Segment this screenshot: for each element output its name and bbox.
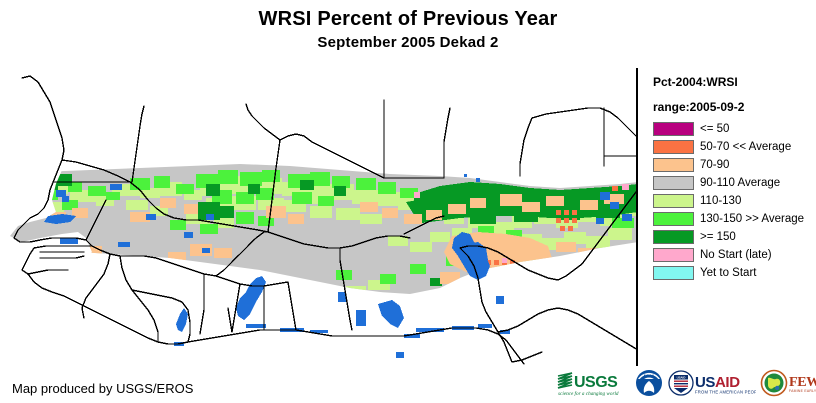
legend-item[interactable]: 50-70 << Average [653,138,816,156]
legend-item[interactable]: 130-150 >> Average [653,210,816,228]
legend-title: Pct-2004:WRSI [653,75,816,89]
map-canvas[interactable] [0,66,638,366]
svg-text:science for a changing world: science for a changing world [558,390,619,397]
usaid-logo[interactable]: USAID US AID FROM THE AMERICAN PEOPLE [668,367,756,399]
usgs-logo[interactable]: USGS science for a changing world [556,367,630,399]
svg-text:USAID: USAID [677,376,686,380]
svg-text:US: US [695,374,715,391]
legend-swatch-130-150 [653,212,694,226]
legend-swatch-110-130 [653,194,694,208]
legend-item[interactable]: <= 50 [653,120,816,138]
legend-label: >= 150 [700,230,736,244]
legend-item[interactable]: >= 150 [653,228,816,246]
page-title: WRSI Percent of Previous Year [0,7,816,31]
noaa-logo[interactable]: NOAA [634,367,664,399]
legend-label: 130-150 >> Average [700,212,804,226]
legend-swatch-90-110 [653,176,694,190]
legend-label: <= 50 [700,122,729,136]
legend-item[interactable]: No Start (late) [653,246,816,264]
page-subtitle: September 2005 Dekad 2 [0,33,816,53]
legend-swatch-no-start [653,248,694,262]
legend-swatch-50-70 [653,140,694,154]
legend-range: range:2005-09-2 [653,100,816,114]
svg-text:FEWS NET: FEWS NET [789,375,816,390]
legend-item[interactable]: Yet to Start [653,264,816,282]
svg-text:FROM THE AMERICAN PEOPLE: FROM THE AMERICAN PEOPLE [695,390,756,395]
map-credit: Map produced by USGS/EROS [12,381,193,397]
legend-swatch-70-90 [653,158,694,172]
svg-text:NOAA: NOAA [644,374,655,378]
legend-swatch-le-50 [653,122,694,136]
legend-label: 110-130 [700,194,741,208]
legend-item[interactable]: 70-90 [653,156,816,174]
svg-text:AID: AID [715,374,740,391]
legend-item[interactable]: 90-110 Average [653,174,816,192]
legend-swatch-yet-to-start [653,266,694,280]
map-legend: Pct-2004:WRSI range:2005-09-2 <= 50 50-7… [649,66,816,366]
legend-label: 90-110 Average [700,176,780,190]
legend-label: 50-70 << Average [700,140,791,154]
legend-label: 70-90 [700,158,729,172]
svg-text:FAMINE EARLY WARNING SYSTEMS N: FAMINE EARLY WARNING SYSTEMS NETWORK [789,389,816,393]
legend-swatch-ge-150 [653,230,694,244]
fews-net-logo[interactable]: FEWS NET FAMINE EARLY WARNING SYSTEMS NE… [760,367,816,399]
legend-item-list: <= 50 50-70 << Average 70-90 90-110 Aver… [649,120,816,282]
title-block: WRSI Percent of Previous Year September … [0,0,816,53]
svg-text:USGS: USGS [574,374,618,391]
legend-label: Yet to Start [700,266,756,280]
legend-label: No Start (late) [700,248,772,262]
map-page: WRSI Percent of Previous Year September … [0,0,816,403]
agency-logo-bar: USGS science for a changing world NOAA U… [556,366,816,400]
legend-item[interactable]: 110-130 [653,192,816,210]
